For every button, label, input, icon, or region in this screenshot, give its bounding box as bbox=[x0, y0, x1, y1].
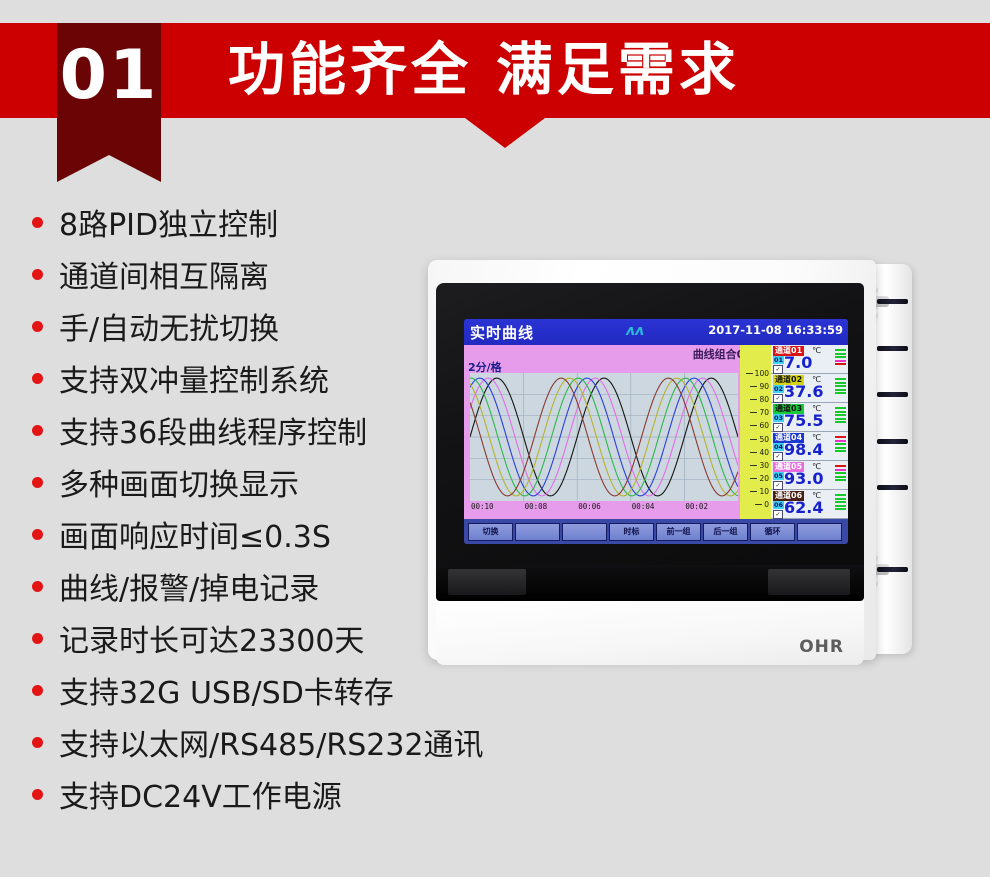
channel-status-bars bbox=[835, 349, 846, 370]
channel-index-badge: 02 bbox=[773, 385, 784, 393]
x-axis-tick: 00:06 bbox=[578, 502, 601, 511]
feature-text: 多种画面切换显示 bbox=[59, 460, 299, 504]
channel-index-badge: 05 bbox=[773, 472, 784, 480]
channel-value: 62.4 bbox=[784, 498, 823, 518]
channel-row[interactable]: 通道05℃05✓93.0 bbox=[771, 461, 848, 490]
vent-slot bbox=[877, 392, 908, 397]
trend-plot-area[interactable] bbox=[470, 373, 738, 501]
y-axis-tick: 50 bbox=[759, 435, 769, 444]
feature-item: 画面响应时间≤0.3S bbox=[32, 508, 462, 560]
feature-item: 支持双冲量控制系统 bbox=[32, 352, 462, 404]
y-axis-tick: 30 bbox=[759, 461, 769, 470]
channel-value: 93.0 bbox=[784, 469, 823, 489]
feature-text: 支持以太网/RS485/RS232通讯 bbox=[59, 720, 484, 764]
bullet-dot-icon bbox=[32, 581, 43, 592]
vent-slot bbox=[877, 439, 908, 444]
channel-row[interactable]: 通道02℃02✓37.6 bbox=[771, 374, 848, 403]
y-axis-tick: 60 bbox=[759, 421, 769, 430]
bullet-dot-icon bbox=[32, 789, 43, 800]
x-axis-tick: 00:10 bbox=[471, 502, 494, 511]
feature-text: 支持DC24V工作电源 bbox=[59, 772, 342, 816]
y-axis-tick: 90 bbox=[759, 382, 769, 391]
feature-item: 8路PID独立控制 bbox=[32, 196, 462, 248]
channel-enable-checkbox[interactable]: ✓ bbox=[773, 365, 783, 374]
feature-item: 支持以太网/RS485/RS232通讯 bbox=[32, 716, 462, 768]
channel-status-bars bbox=[835, 436, 846, 457]
channel-enable-checkbox[interactable]: ✓ bbox=[773, 423, 783, 432]
feature-text: 通道间相互隔离 bbox=[59, 252, 269, 296]
y-axis-tick: 80 bbox=[759, 395, 769, 404]
channel-status-bars bbox=[835, 465, 846, 486]
channel-row[interactable]: 通道03℃03✓75.5 bbox=[771, 403, 848, 432]
feature-text: 手/自动无扰切换 bbox=[59, 304, 279, 348]
feature-list: 8路PID独立控制通道间相互隔离手/自动无扰切换支持双冲量控制系统支持36段曲线… bbox=[32, 196, 462, 820]
bullet-dot-icon bbox=[32, 685, 43, 696]
device-front-bezel: 实时曲线 ᴧᴧ 2017-11-08 16:33:59 曲线组合01 2分/格 … bbox=[428, 260, 876, 660]
channel-enable-checkbox[interactable]: ✓ bbox=[773, 510, 783, 519]
y-axis-tick: 20 bbox=[759, 474, 769, 483]
channel-status-bars bbox=[835, 407, 846, 428]
device-lower-face: OHR bbox=[436, 601, 864, 665]
ohr-wave-logo-icon: ᴧᴧ bbox=[626, 323, 644, 339]
channel-unit: ℃ bbox=[812, 346, 821, 355]
bullet-dot-icon bbox=[32, 321, 43, 332]
feature-item: 通道间相互隔离 bbox=[32, 248, 462, 300]
feature-text: 曲线/报警/掉电记录 bbox=[59, 564, 319, 608]
section-number-ribbon: 01 bbox=[57, 23, 161, 155]
vent-slot bbox=[877, 567, 908, 572]
softkey-button[interactable]: 时标 bbox=[609, 523, 654, 541]
feature-item: 多种画面切换显示 bbox=[32, 456, 462, 508]
feature-item: 记录时长可达23300天 bbox=[32, 612, 462, 664]
y-axis-tick: 40 bbox=[759, 448, 769, 457]
feature-item: 曲线/报警/掉电记录 bbox=[32, 560, 462, 612]
x-axis-tick: 00:04 bbox=[632, 502, 655, 511]
device-photo: 实时曲线 ᴧᴧ 2017-11-08 16:33:59 曲线组合01 2分/格 … bbox=[428, 255, 890, 667]
channel-row[interactable]: 通道06℃06✓62.4 bbox=[771, 490, 848, 519]
softkey-button[interactable]: 切换 bbox=[468, 523, 513, 541]
channel-index-badge: 03 bbox=[773, 414, 784, 422]
device-button-right[interactable] bbox=[768, 569, 850, 595]
device-button-left[interactable] bbox=[448, 569, 526, 595]
y-axis-tick: 0 bbox=[764, 500, 769, 509]
x-axis-tick: 00:02 bbox=[685, 502, 708, 511]
softkey-button[interactable]: 后一组 bbox=[703, 523, 748, 541]
feature-text: 画面响应时间≤0.3S bbox=[59, 512, 331, 556]
vent-slot bbox=[877, 346, 908, 351]
channel-status-bars bbox=[835, 494, 846, 515]
channel-row[interactable]: 通道04℃04✓98.4 bbox=[771, 432, 848, 461]
lcd-datetime: 2017-11-08 16:33:59 bbox=[708, 323, 843, 337]
device-lcd-screen[interactable]: 实时曲线 ᴧᴧ 2017-11-08 16:33:59 曲线组合01 2分/格 … bbox=[464, 319, 848, 544]
y-axis-tick: 70 bbox=[759, 408, 769, 417]
trend-curves-svg bbox=[470, 373, 738, 501]
bullet-dot-icon bbox=[32, 529, 43, 540]
section-number: 01 bbox=[57, 37, 161, 115]
softkey-button[interactable] bbox=[797, 523, 842, 541]
y-axis-tick: 10 bbox=[759, 487, 769, 496]
x-axis-tick: 00:08 bbox=[525, 502, 548, 511]
channel-value: 98.4 bbox=[784, 440, 823, 460]
trend-x-axis: 00:1000:0800:0600:0400:02 bbox=[470, 502, 738, 516]
feature-text: 支持双冲量控制系统 bbox=[59, 356, 329, 400]
lcd-softkey-bar: 切换时标前一组后一组循环 bbox=[464, 519, 848, 544]
channel-value: 37.6 bbox=[784, 382, 823, 402]
lcd-title-bar: 实时曲线 ᴧᴧ 2017-11-08 16:33:59 bbox=[464, 319, 848, 345]
header-arrow-indicator bbox=[465, 118, 545, 148]
feature-text: 记录时长可达23300天 bbox=[59, 616, 364, 660]
bullet-dot-icon bbox=[32, 633, 43, 644]
softkey-button[interactable]: 前一组 bbox=[656, 523, 701, 541]
channel-index-badge: 06 bbox=[773, 501, 784, 509]
brand-logo: OHR bbox=[799, 637, 844, 657]
feature-text: 支持32G USB/SD卡转存 bbox=[59, 668, 394, 712]
vent-slot bbox=[877, 299, 908, 304]
channel-enable-checkbox[interactable]: ✓ bbox=[773, 452, 783, 461]
softkey-button[interactable] bbox=[562, 523, 607, 541]
channel-value: 7.0 bbox=[784, 353, 812, 373]
channel-index-badge: 01 bbox=[773, 356, 784, 364]
vent-slot bbox=[877, 485, 908, 490]
bullet-dot-icon bbox=[32, 477, 43, 488]
feature-item: 支持32G USB/SD卡转存 bbox=[32, 664, 462, 716]
feature-text: 支持36段曲线程序控制 bbox=[59, 408, 367, 452]
lcd-screen-title: 实时曲线 bbox=[470, 322, 534, 343]
feature-item: 支持36段曲线程序控制 bbox=[32, 404, 462, 456]
bullet-dot-icon bbox=[32, 269, 43, 280]
feature-item: 支持DC24V工作电源 bbox=[32, 768, 462, 820]
channel-status-bars bbox=[835, 378, 846, 399]
feature-text: 8路PID独立控制 bbox=[59, 200, 278, 244]
feature-item: 手/自动无扰切换 bbox=[32, 300, 462, 352]
channel-enable-checkbox[interactable]: ✓ bbox=[773, 481, 783, 490]
bullet-dot-icon bbox=[32, 217, 43, 228]
softkey-button[interactable] bbox=[515, 523, 560, 541]
device-lower-black-strip bbox=[436, 565, 864, 601]
trend-y-axis-scale: 1009080706050403020100 bbox=[740, 345, 771, 519]
channel-value-panel[interactable]: 通道01℃01✓7.0通道02℃02✓37.6通道03℃03✓75.5通道04℃… bbox=[771, 345, 848, 519]
lcd-body: 曲线组合01 2分/格 00:1000:0800:0600:0400:02 10… bbox=[464, 345, 848, 519]
channel-index-badge: 04 bbox=[773, 443, 784, 451]
channel-value: 75.5 bbox=[784, 411, 823, 431]
softkey-button[interactable]: 循环 bbox=[750, 523, 795, 541]
channel-row[interactable]: 通道01℃01✓7.0 bbox=[771, 345, 848, 374]
page-title: 功能齐全 满足需求 bbox=[228, 32, 740, 108]
bullet-dot-icon bbox=[32, 425, 43, 436]
bullet-dot-icon bbox=[32, 737, 43, 748]
device-display-surround: 实时曲线 ᴧᴧ 2017-11-08 16:33:59 曲线组合01 2分/格 … bbox=[436, 283, 864, 576]
bullet-dot-icon bbox=[32, 373, 43, 384]
channel-enable-checkbox[interactable]: ✓ bbox=[773, 394, 783, 403]
y-axis-tick: 100 bbox=[755, 369, 769, 378]
